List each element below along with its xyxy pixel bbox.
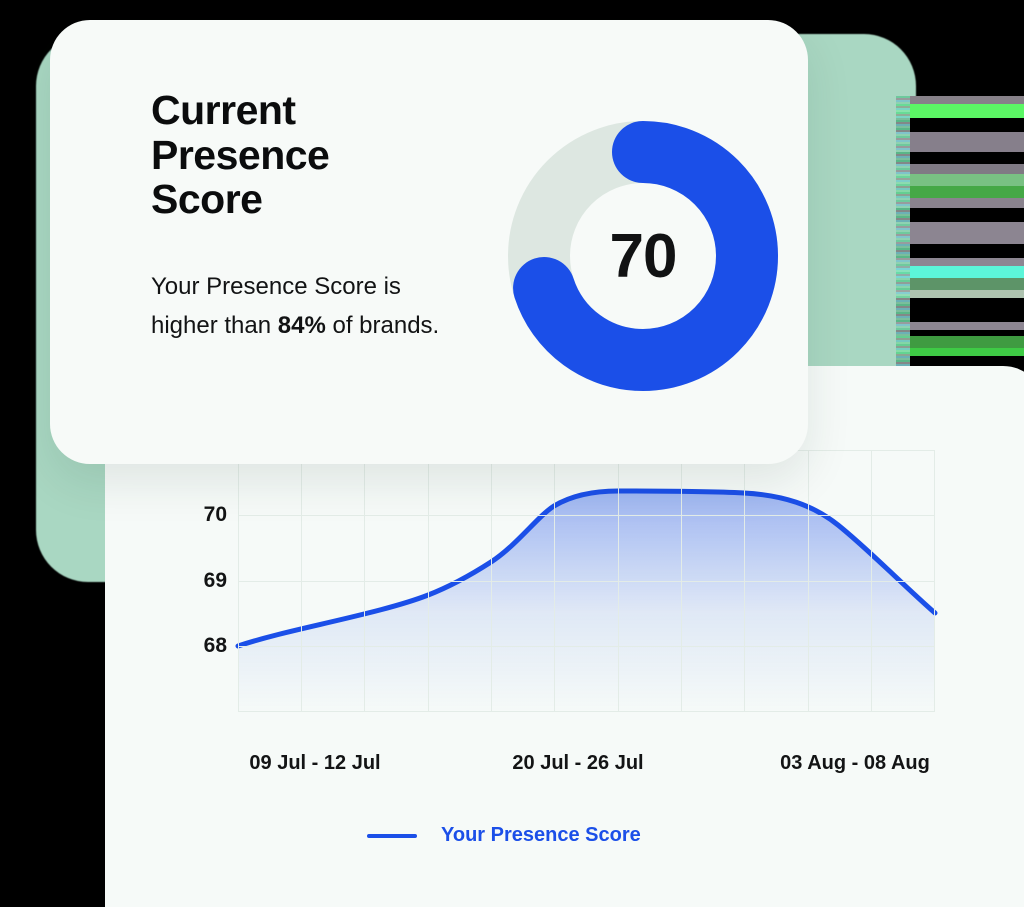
chart-x-axis: 09 Jul - 12 Jul 20 Jul - 26 Jul 03 Aug -… <box>238 752 998 782</box>
presence-score-gauge: 70 <box>507 120 779 392</box>
glitch-noise-column <box>896 96 910 368</box>
legend-label: Your Presence Score <box>441 824 641 847</box>
score-description-suffix: of brands. <box>326 312 439 339</box>
chart-plot-area <box>238 450 935 712</box>
y-tick-label: 70 <box>204 503 227 527</box>
glitch-stripe-artifact <box>896 96 1024 368</box>
chart-legend[interactable]: Your Presence Score <box>367 824 641 847</box>
legend-swatch-line <box>367 834 417 838</box>
gridline-horizontal <box>238 646 935 647</box>
page-root: 71 70 69 68 09 Jul - 12 Jul 20 Jul - 26 … <box>0 0 1024 907</box>
x-tick-label: 20 Jul - 26 Jul <box>512 752 643 775</box>
x-tick-label: 03 Aug - 08 Aug <box>780 752 930 775</box>
chart-y-axis: 71 70 69 68 <box>165 450 227 712</box>
x-tick-label: 09 Jul - 12 Jul <box>249 752 380 775</box>
gridline-horizontal <box>238 711 935 712</box>
gauge-value-label: 70 <box>507 120 779 392</box>
score-description: Your Presence Score is higher than 84% o… <box>151 268 451 346</box>
page-title: Current Presence Score <box>151 88 451 222</box>
presence-score-card: Current Presence Score Your Presence Sco… <box>50 20 808 464</box>
gridline-horizontal <box>238 581 935 582</box>
chart-area-fill <box>238 491 935 712</box>
y-tick-label: 69 <box>204 569 227 593</box>
score-percentile: 84% <box>278 312 326 339</box>
y-tick-label: 68 <box>204 634 227 658</box>
gridline-horizontal <box>238 515 935 516</box>
